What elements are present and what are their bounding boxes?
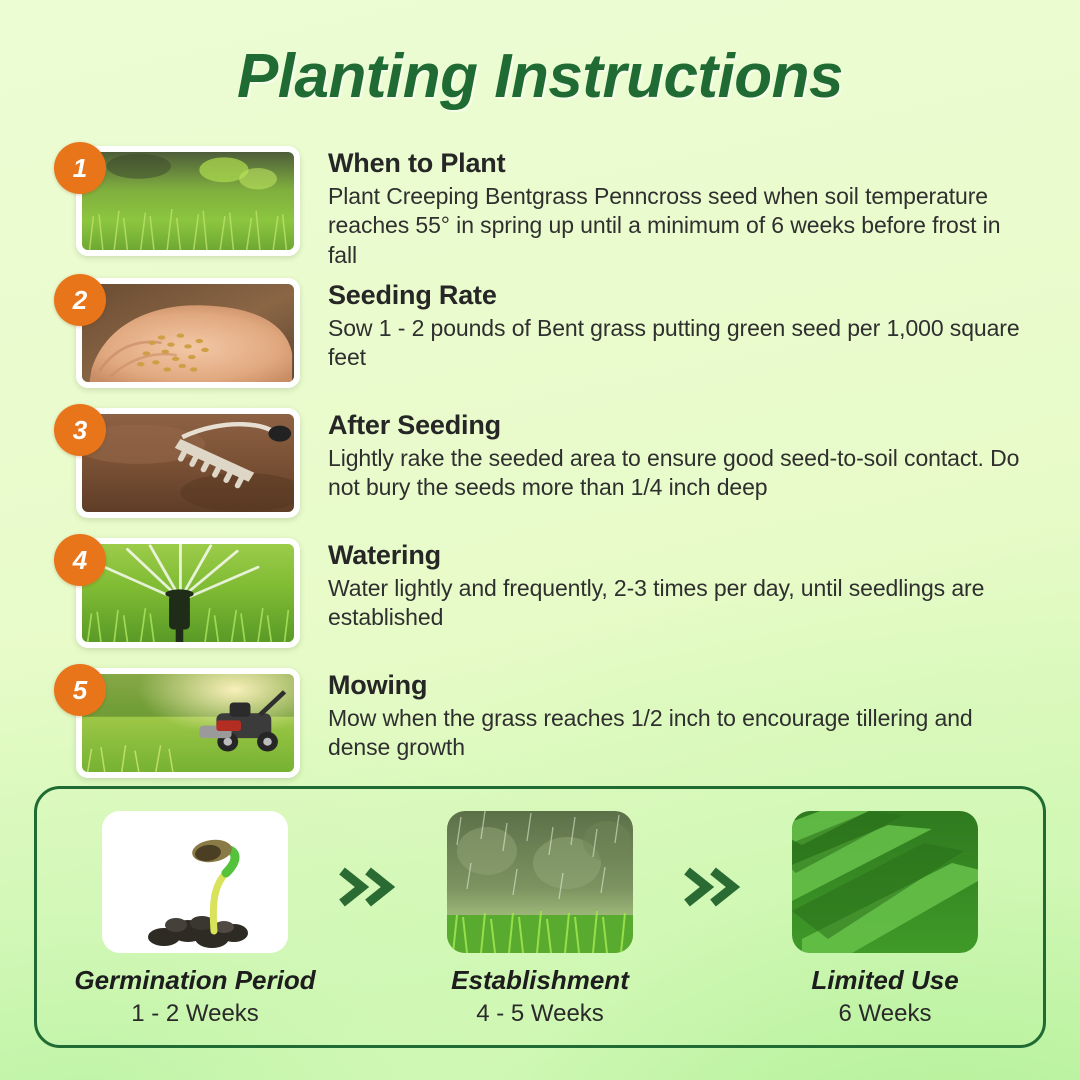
step-text: Seeding Rate Sow 1 - 2 pounds of Bent gr… [328, 278, 1080, 373]
hand-holding-seeds-photo [76, 278, 300, 388]
step-text: After Seeding Lightly rake the seeded ar… [328, 408, 1080, 503]
timeline-stage-label: Germination Period [71, 965, 319, 996]
timeline-stage-germination: Germination Period 1 - 2 Weeks [71, 811, 319, 1029]
step-item: 4 [0, 538, 1080, 660]
timeline-stage-duration: 4 - 5 Weeks [416, 1000, 664, 1029]
step-thumbnail-wrap: 5 [76, 668, 308, 778]
infographic-page: Planting Instructions 1 [0, 0, 1080, 1080]
step-thumbnail-wrap: 4 [76, 538, 308, 648]
step-title: Seeding Rate [328, 280, 1020, 312]
step-body: Mow when the grass reaches 1/2 inch to e… [328, 704, 1020, 763]
timeline-panel: Germination Period 1 - 2 Weeks [34, 786, 1046, 1048]
striped-mown-lawn-photo [792, 811, 978, 953]
step-thumbnail-wrap: 3 [76, 408, 308, 518]
timeline-stage-duration: 1 - 2 Weeks [71, 1000, 319, 1029]
step-thumbnail-wrap: 1 [76, 146, 308, 256]
step-body: Sow 1 - 2 pounds of Bent grass putting g… [328, 314, 1020, 373]
timeline-stage-duration: 6 Weeks [761, 1000, 1009, 1029]
timeline-stage-label: Limited Use [761, 965, 1009, 996]
rain-on-grass-photo [447, 811, 633, 953]
step-number-badge: 1 [54, 142, 106, 194]
step-text: When to Plant Plant Creeping Bentgrass P… [328, 146, 1080, 270]
sprouting-seedling-photo [102, 811, 288, 953]
sprinkler-watering-grass-photo [76, 538, 300, 648]
step-item: 2 [0, 278, 1080, 400]
step-body: Water lightly and frequently, 2-3 times … [328, 574, 1020, 633]
step-thumbnail-wrap: 2 [76, 278, 308, 388]
step-title: Watering [328, 540, 1020, 572]
timeline-stage-label: Establishment [416, 965, 664, 996]
double-chevron-right-icon [671, 811, 755, 909]
timeline-stage-limited-use: Limited Use 6 Weeks [761, 811, 1009, 1029]
step-text: Mowing Mow when the grass reaches 1/2 in… [328, 668, 1080, 763]
step-title: When to Plant [328, 148, 1020, 180]
step-body: Lightly rake the seeded area to ensure g… [328, 444, 1020, 503]
step-item: 1 [0, 146, 1080, 270]
step-body: Plant Creeping Bentgrass Penncross seed … [328, 182, 1020, 270]
rake-on-soil-photo [76, 408, 300, 518]
step-title: Mowing [328, 670, 1020, 702]
timeline-stage-establishment: Establishment 4 - 5 Weeks [416, 811, 664, 1029]
lawn-mower-photo [76, 668, 300, 778]
step-text: Watering Water lightly and frequently, 2… [328, 538, 1080, 633]
grass-field-photo [76, 146, 300, 256]
step-number-badge: 3 [54, 404, 106, 456]
page-title: Planting Instructions [0, 44, 1080, 109]
steps-list: 1 [0, 146, 1080, 798]
step-number-badge: 5 [54, 664, 106, 716]
step-item: 5 [0, 668, 1080, 790]
step-item: 3 [0, 408, 1080, 530]
step-title: After Seeding [328, 410, 1020, 442]
double-chevron-right-icon [326, 811, 410, 909]
step-number-badge: 2 [54, 274, 106, 326]
step-number-badge: 4 [54, 534, 106, 586]
